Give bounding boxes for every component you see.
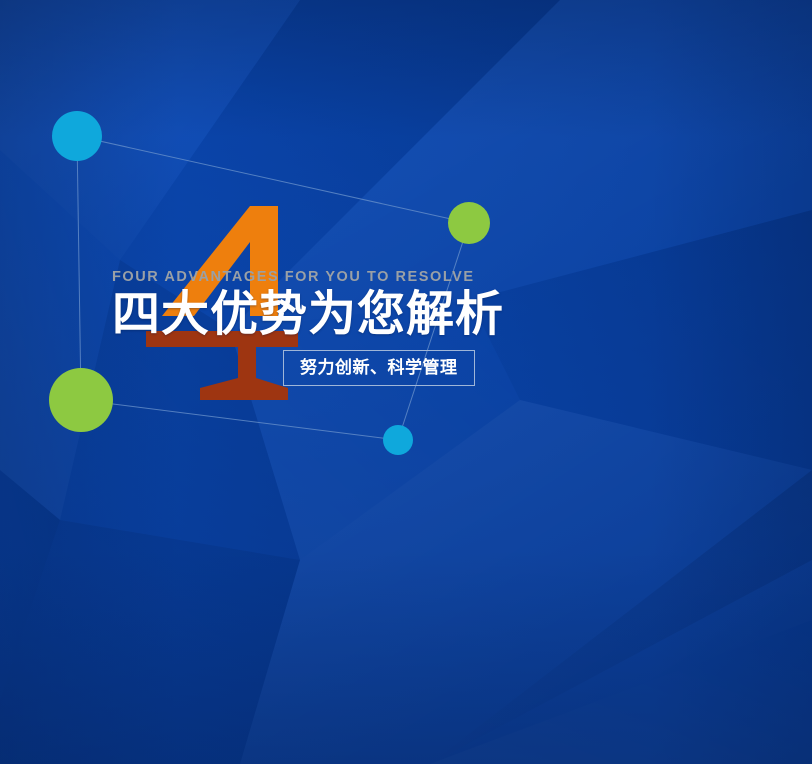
node-cyan-top-left	[52, 111, 102, 161]
banner-headline: 四大优势为您解析	[112, 288, 672, 342]
node-green-top-right	[448, 202, 490, 244]
banner-tagline-row: 努力创新、科学管理	[283, 350, 475, 386]
banner-eyebrow: FOUR ADVANTAGES FOR YOU TO RESOLVE	[112, 268, 672, 286]
node-cyan-bottom	[383, 425, 413, 455]
banner-tagline-badge: 努力创新、科学管理	[283, 350, 475, 386]
promo-banner: FOUR ADVANTAGES FOR YOU TO RESOLVE 四大优势为…	[0, 0, 812, 764]
banner-text-block: FOUR ADVANTAGES FOR YOU TO RESOLVE 四大优势为…	[112, 268, 672, 342]
node-green-bottom-left	[49, 368, 113, 432]
link-cyan-top-left-to-green-bottom-left	[77, 136, 81, 400]
